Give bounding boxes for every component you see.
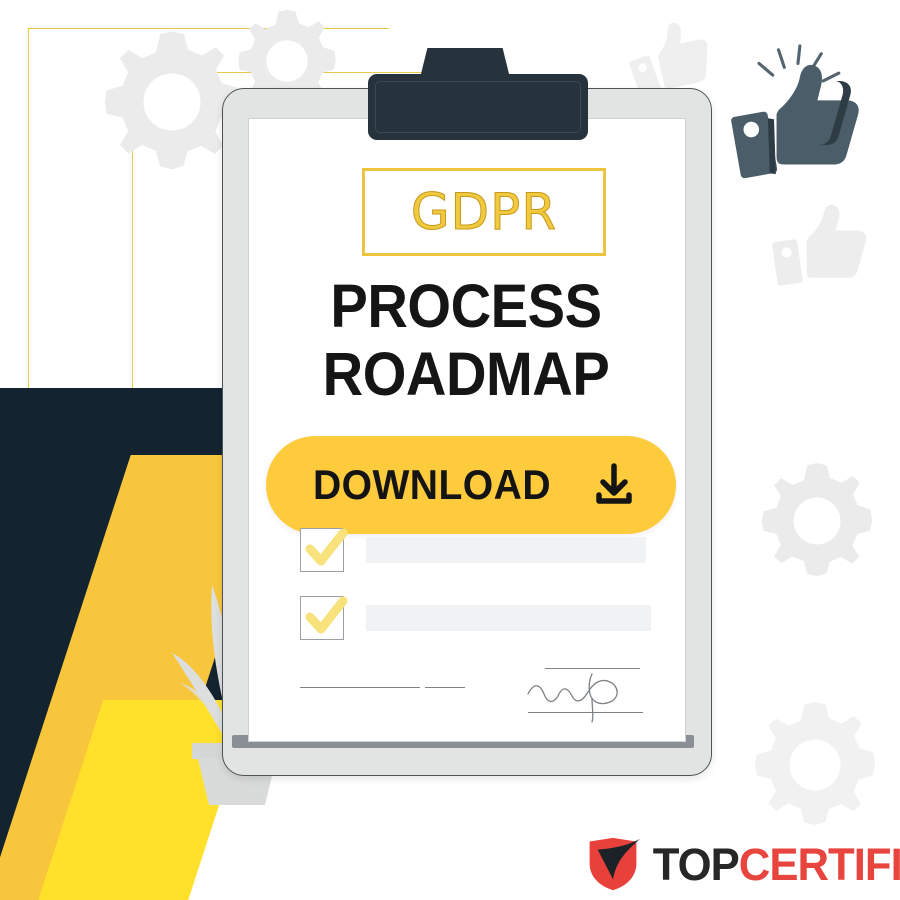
thumbs-up-icon (726, 44, 866, 184)
list-item (300, 528, 646, 572)
clipboard-clip-body (368, 74, 588, 140)
brand-name-certifier: CERTIFIER (739, 839, 900, 890)
signature-rule-line (425, 687, 465, 688)
checkbox[interactable] (300, 528, 344, 572)
thumbs-up-icon (768, 190, 876, 298)
gear-icon (748, 452, 886, 590)
page-title-line2: ROADMAP (265, 340, 666, 408)
page-title: PROCESS ROADMAP (265, 272, 666, 409)
brand-logo: TOPCERTIFIER (586, 836, 900, 892)
poster-canvas: GDPR PROCESS ROADMAP DOWNLOAD (0, 0, 900, 900)
list-item (300, 596, 651, 640)
download-button-label: DOWNLOAD (313, 461, 551, 509)
download-arrow-icon (590, 461, 638, 509)
page-title-line1: PROCESS (265, 272, 666, 340)
list-item-placeholder-bar (366, 537, 646, 563)
gdpr-badge: GDPR (362, 168, 606, 256)
signature-rule-line (300, 687, 420, 688)
checkbox[interactable] (300, 596, 344, 640)
signature-scribble-icon (520, 664, 660, 724)
brand-name-top: TOP (653, 839, 739, 890)
list-item-placeholder-bar (366, 605, 651, 631)
brand-name: TOPCERTIFIER (653, 842, 900, 887)
gdpr-badge-label: GDPR (411, 187, 557, 237)
shield-check-icon (586, 836, 640, 892)
download-button[interactable]: DOWNLOAD (266, 436, 676, 534)
gear-icon (740, 690, 890, 840)
